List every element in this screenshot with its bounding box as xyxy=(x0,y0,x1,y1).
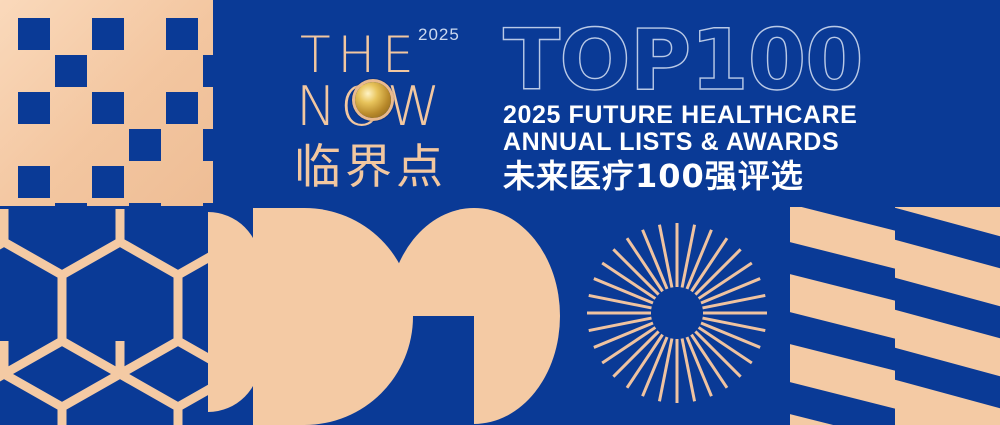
checker-cell xyxy=(203,55,213,87)
top100-outline-title: TOP100 xyxy=(503,18,973,102)
subtitle-en-line1: 2025 FUTURE HEALTHCARE xyxy=(503,102,973,129)
checker-cell xyxy=(55,55,87,87)
checker-cell xyxy=(92,92,124,124)
checker-cell xyxy=(18,92,50,124)
checker-cell xyxy=(18,166,50,198)
logo-chinese: 临界点 xyxy=(294,144,447,191)
checkerboard-pattern xyxy=(0,0,213,206)
notched-circle-shape xyxy=(388,208,560,425)
sunburst-rays-pattern xyxy=(586,222,768,404)
checker-cell xyxy=(166,92,198,124)
checker-cell xyxy=(18,18,50,50)
checker-cell xyxy=(129,129,161,161)
gold-orb-icon xyxy=(355,82,391,118)
subtitle-en-line2: ANNUAL LISTS & AWARDS xyxy=(503,129,973,156)
headline-block: TOP100 2025 FUTURE HEALTHCARE ANNUAL LIS… xyxy=(503,18,973,194)
logo-year: 2025 xyxy=(418,26,460,43)
poster-canvas: THE 2025 NOW 临界点 TOP100 2025 FUTURE HEAL… xyxy=(0,0,1000,425)
subtitle-cn: 未来医疗100强评选 xyxy=(503,158,973,194)
logo-lockup: THE 2025 NOW 临界点 xyxy=(296,22,486,197)
diagonal-stripes-pattern xyxy=(790,207,1000,425)
logo-word-the: THE xyxy=(300,30,421,80)
checker-cell xyxy=(203,129,213,161)
checker-cell xyxy=(92,18,124,50)
checker-cell xyxy=(92,166,124,198)
checker-cell xyxy=(166,18,198,50)
hexagon-lattice-pattern xyxy=(0,206,228,425)
